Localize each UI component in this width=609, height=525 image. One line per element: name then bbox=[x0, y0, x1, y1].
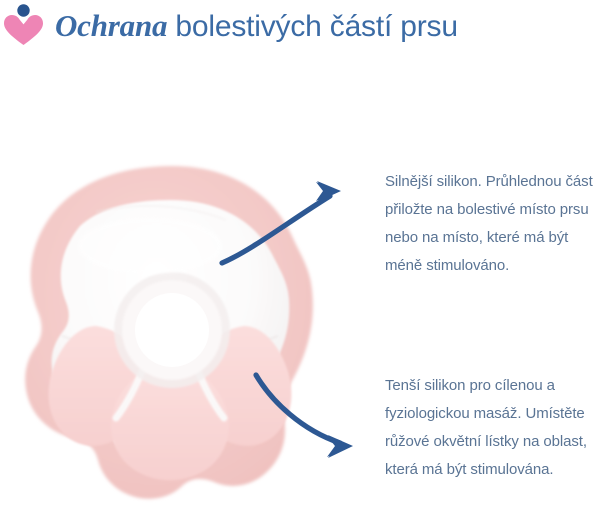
page-title: Ochrana bolestivých částí prsu bbox=[55, 6, 600, 46]
product-illustration bbox=[0, 150, 330, 520]
product-center-hole bbox=[135, 293, 209, 367]
breast-shell-svg bbox=[0, 150, 330, 520]
page-title-rest: bolestivých částí prsu bbox=[167, 10, 458, 43]
brand-logo bbox=[2, 2, 46, 46]
page-header: Ochrana bolestivých částí prsu bbox=[0, 0, 609, 100]
callout-text-thicker-silicone: Silnější silikon. Průhlednou část přilož… bbox=[385, 168, 607, 280]
product-highlight bbox=[78, 218, 222, 274]
heart-with-dot-icon bbox=[2, 2, 46, 46]
callout-text-thinner-silicone: Tenší silikon pro cílenou a fyziologicko… bbox=[385, 372, 607, 484]
page-title-emphasis: Ochrana bbox=[55, 8, 167, 43]
